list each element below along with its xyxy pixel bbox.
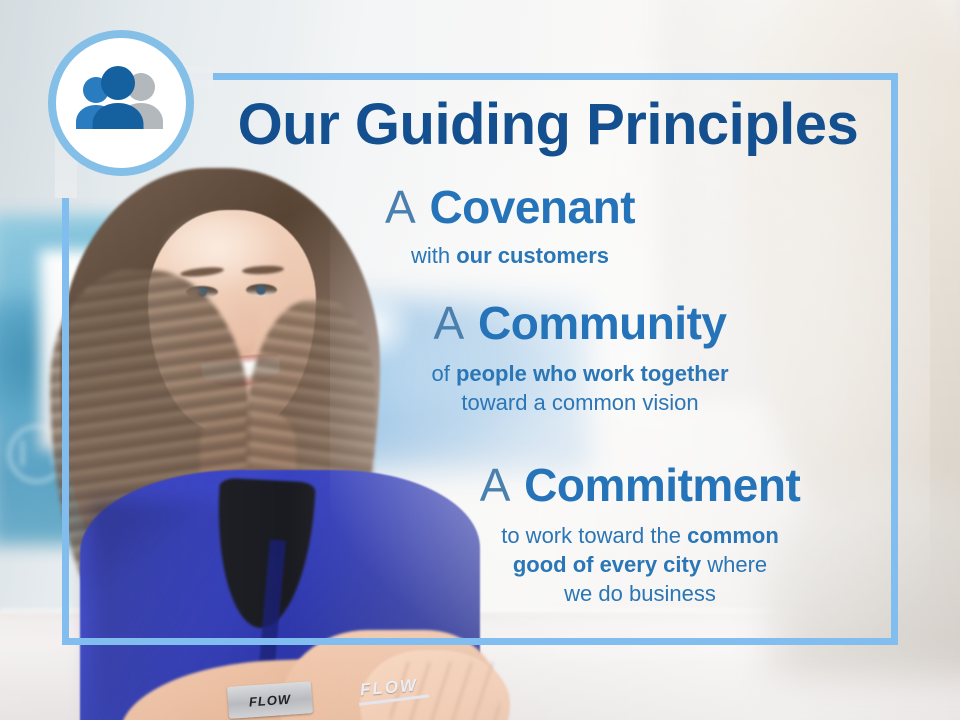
principle-word: Commitment	[524, 459, 800, 511]
principle-word: Community	[478, 297, 727, 349]
principle-heading: A Community	[345, 300, 815, 348]
principle-commitment: A Commitment to work toward the commongo…	[400, 462, 880, 608]
principle-community: A Community of people who work togethert…	[345, 300, 815, 417]
principle-word: Covenant	[429, 181, 635, 233]
principle-subtext: to work toward the commongood of every c…	[400, 521, 880, 608]
principle-heading: A Commitment	[400, 462, 880, 510]
principle-covenant: A Covenant with our customers	[300, 184, 720, 270]
principle-article: A	[480, 459, 512, 511]
principle-article: A	[434, 297, 466, 349]
people-badge	[48, 30, 194, 176]
principle-subtext: with our customers	[300, 241, 720, 270]
guiding-principles-poster: FLOW FLOW Our Guiding Principles	[0, 0, 960, 720]
principle-subtext: of people who work togethertoward a comm…	[345, 359, 815, 417]
principle-heading: A Covenant	[300, 184, 720, 232]
principle-article: A	[385, 181, 417, 233]
group-of-people-icon	[71, 65, 171, 141]
eye-right	[246, 284, 277, 296]
page-title: Our Guiding Principles	[218, 96, 878, 154]
name-badge: FLOW	[227, 681, 313, 719]
shirt-chest-logo: FLOW	[359, 676, 419, 701]
